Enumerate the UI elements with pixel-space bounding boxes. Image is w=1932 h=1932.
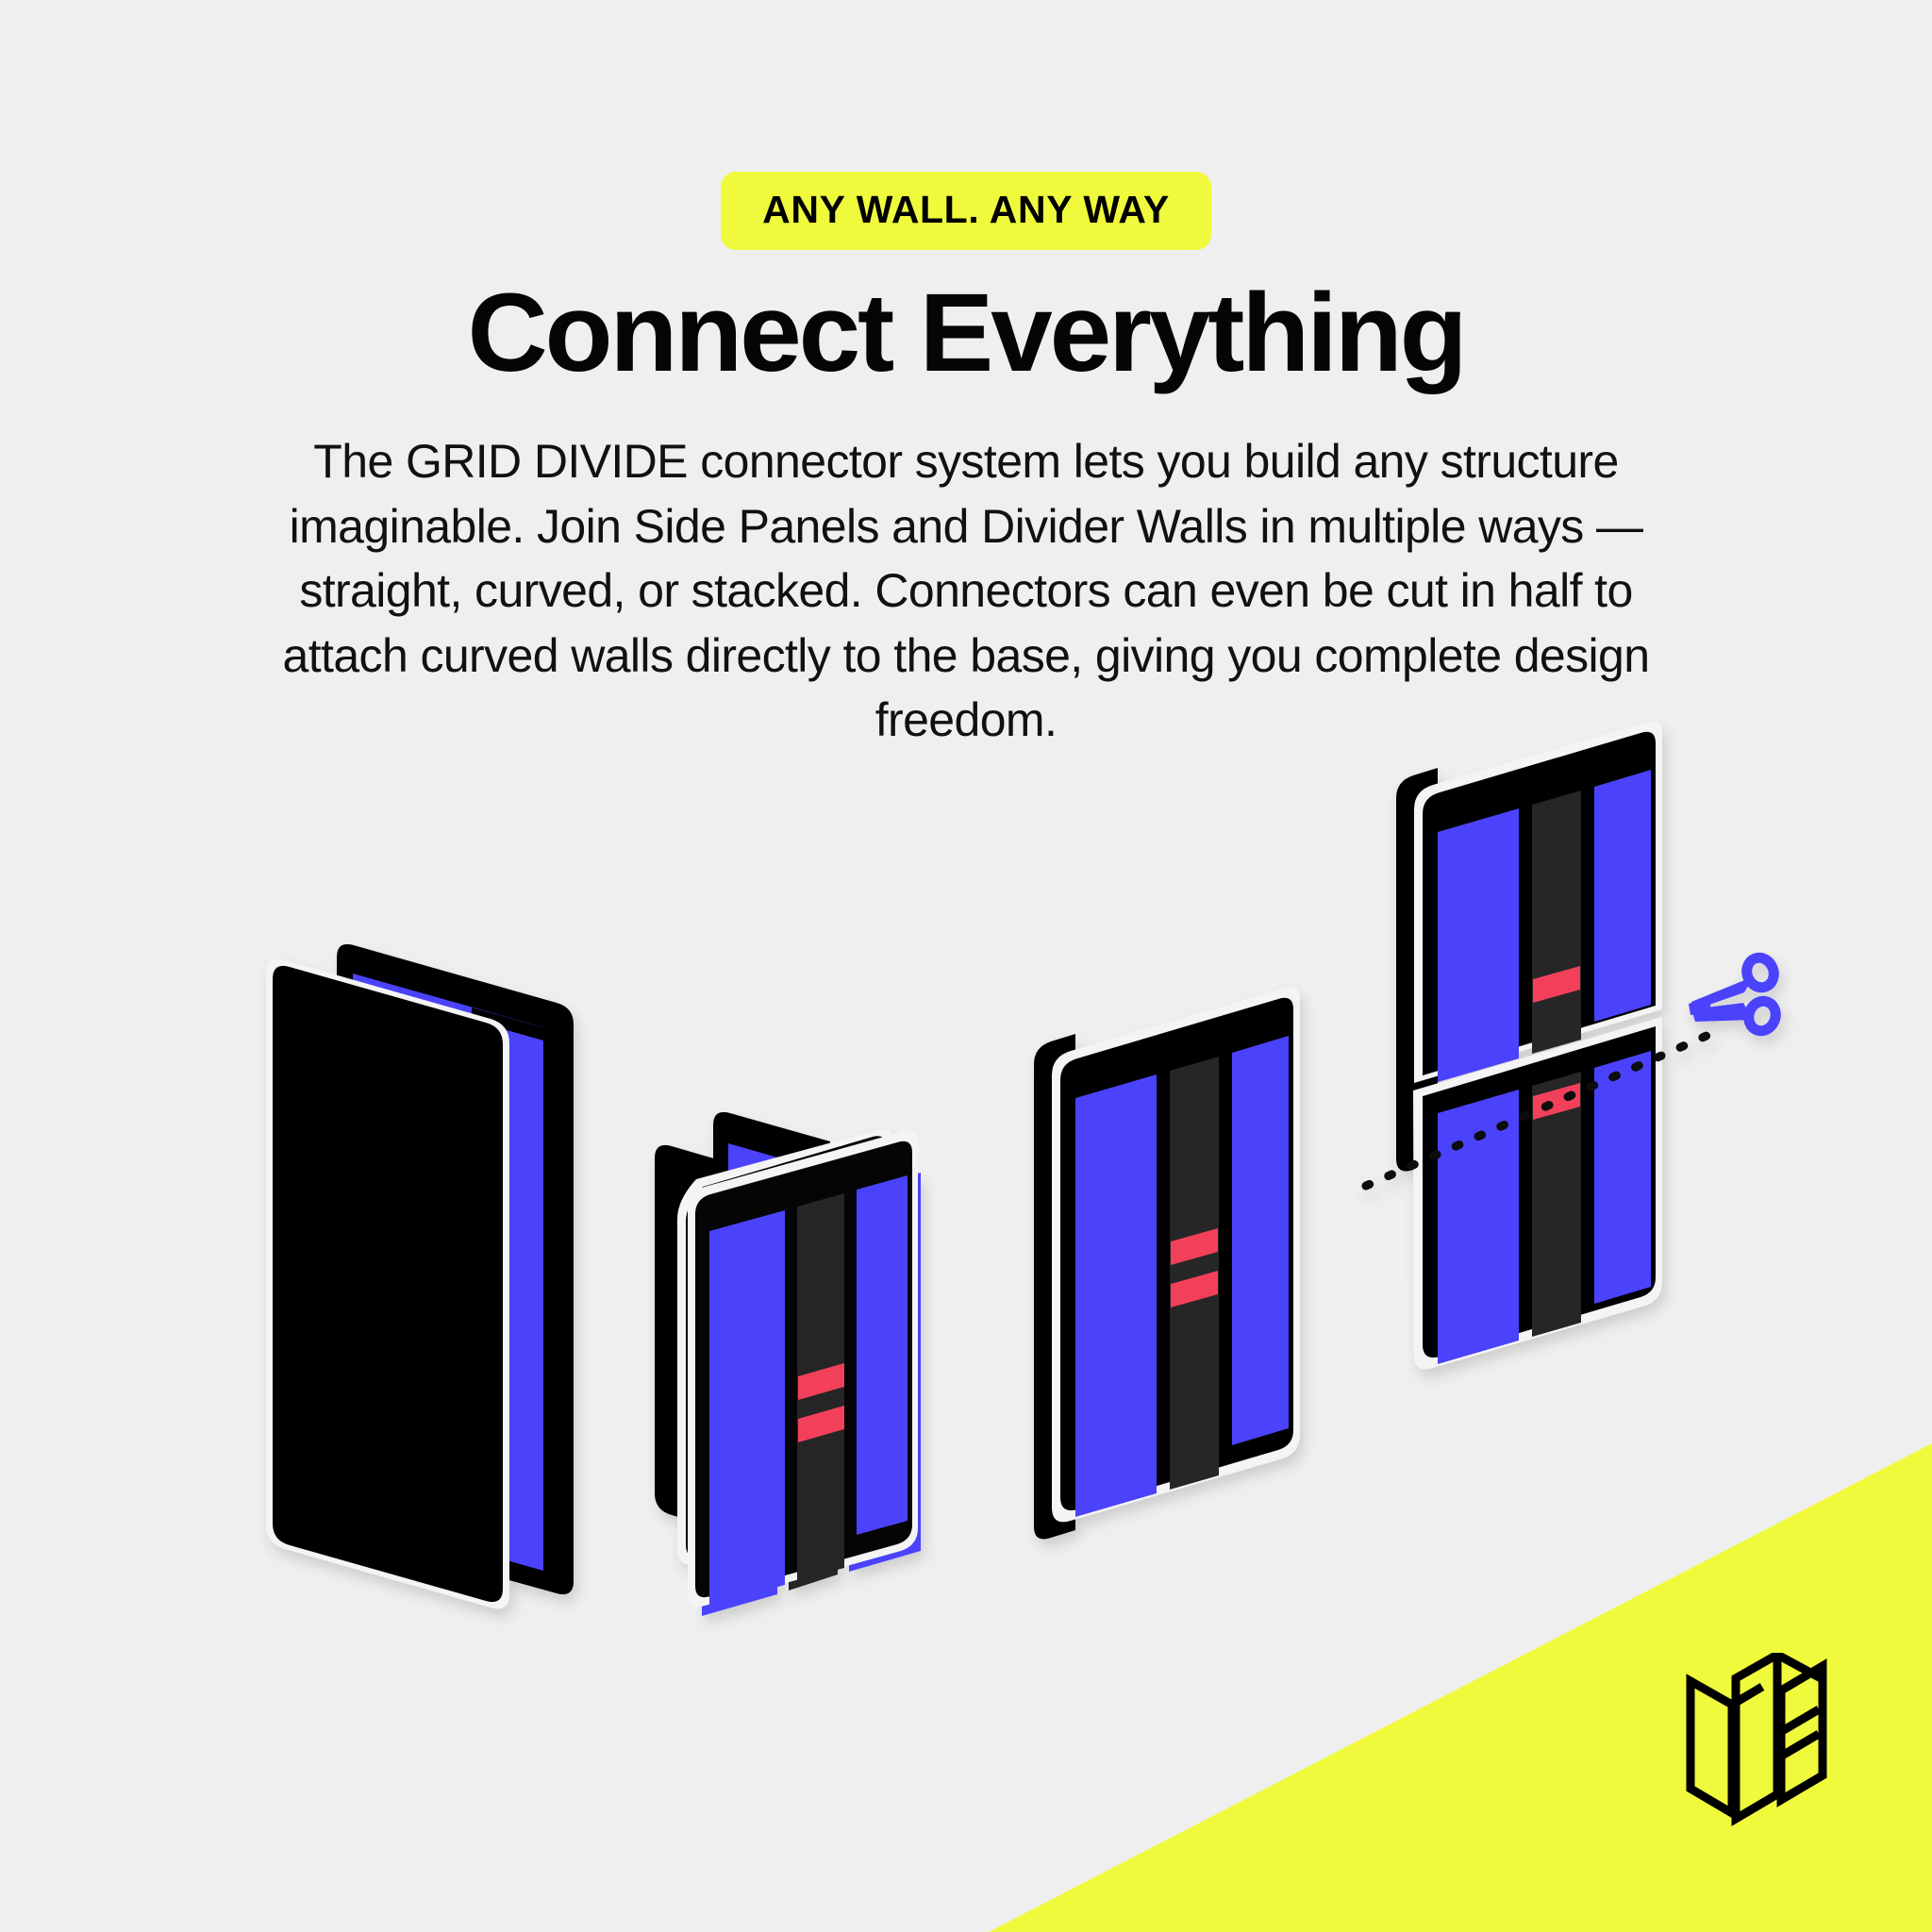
- figure3-face-connector: [1170, 1057, 1219, 1490]
- figure1-rear-panel-blue: [353, 974, 543, 1208]
- figure4-lower-slab: [1423, 1026, 1656, 1357]
- figure4-upper-blue-right: [1594, 770, 1651, 1022]
- figure-connector-cut: [1366, 722, 1780, 1370]
- figure-connector-straight: [655, 1112, 921, 1616]
- figure2-back-wall-blue: [728, 1143, 817, 1247]
- figure4-upper-slab: [1423, 732, 1656, 1075]
- figure4-lower-blue-left: [1438, 1090, 1519, 1364]
- figure1-front-panel-edge: [266, 959, 509, 1609]
- figure2-slab-edge: [688, 1131, 918, 1607]
- figure2-red-bar-2: [798, 1406, 844, 1442]
- figure3-slab-edge: [1052, 988, 1300, 1523]
- figure-connector-straight-body: [688, 1131, 918, 1607]
- figure4-rear-slab: [1396, 768, 1438, 1172]
- figure2-front-panel-black: [686, 1136, 888, 1557]
- figure1-rear-panel-frame: [332, 948, 564, 1245]
- header-block: ANY WALL. ANY WAY Connect Everything The…: [0, 0, 1932, 753]
- figure1-rear-panel-blue-lower-face: [487, 1024, 543, 1571]
- figure4-upper-connector: [1532, 791, 1581, 1054]
- figure2-back-wing: [655, 1145, 717, 1528]
- figure2-front-panel-edge: [677, 1129, 894, 1564]
- figure2-back-wall-black: [713, 1112, 830, 1255]
- figure4-lower-blue-right: [1594, 1051, 1651, 1304]
- scissors-icon: [1689, 954, 1780, 1035]
- page-title: Connect Everything: [0, 271, 1932, 395]
- figure2-slab: [695, 1141, 912, 1597]
- grid-divide-logo: [1677, 1653, 1857, 1841]
- figure3-red-bar-1: [1171, 1228, 1218, 1265]
- figure2-face-blue-left: [709, 1210, 785, 1606]
- figure4-upper-blue-left: [1438, 808, 1519, 1082]
- figure4-lower-connector: [1532, 1072, 1581, 1337]
- figure4-lower-edge: [1413, 1017, 1662, 1369]
- figure3-face-blue-right: [1232, 1036, 1289, 1445]
- figure3-rear-slab: [1034, 1034, 1075, 1540]
- figure3-slab: [1060, 998, 1293, 1510]
- figure2-blue-right: [849, 1173, 921, 1572]
- figure-side-panel-pair: [266, 944, 574, 1608]
- figure4-upper-red-bar: [1533, 966, 1580, 1003]
- figure3-red-bar-2: [1171, 1271, 1218, 1307]
- figure-connector-stacked: [1034, 988, 1300, 1540]
- figure2-red-bar-top: [791, 1362, 836, 1400]
- figure1-rear-panel-blue-lower: [472, 1008, 574, 1594]
- figure4-upper-edge: [1414, 722, 1662, 1084]
- figure1-front-panel-black: [273, 966, 503, 1602]
- figure1-rear-panel-black: [337, 944, 574, 1226]
- figure2-face-blue-right: [857, 1175, 908, 1535]
- figure2-red-bar-1: [798, 1363, 844, 1400]
- figure3-face-blue-left: [1075, 1074, 1157, 1517]
- figure2-connector-strip: [789, 1196, 838, 1591]
- figure4-lower-red-bar: [1533, 1083, 1580, 1120]
- cut-dotted-line: [1366, 1032, 1715, 1186]
- figure2-red-bar-bottom: [791, 1405, 836, 1442]
- eyebrow-badge: ANY WALL. ANY WAY: [721, 172, 1211, 250]
- logo-mark-icon: [1677, 1653, 1857, 1841]
- figure2-face-connector: [797, 1193, 844, 1581]
- figure2-blue-left: [702, 1214, 777, 1616]
- body-paragraph: The GRID DIVIDE connector system lets yo…: [249, 429, 1683, 753]
- poster-canvas: ANY WALL. ANY WAY Connect Everything The…: [0, 0, 1932, 1932]
